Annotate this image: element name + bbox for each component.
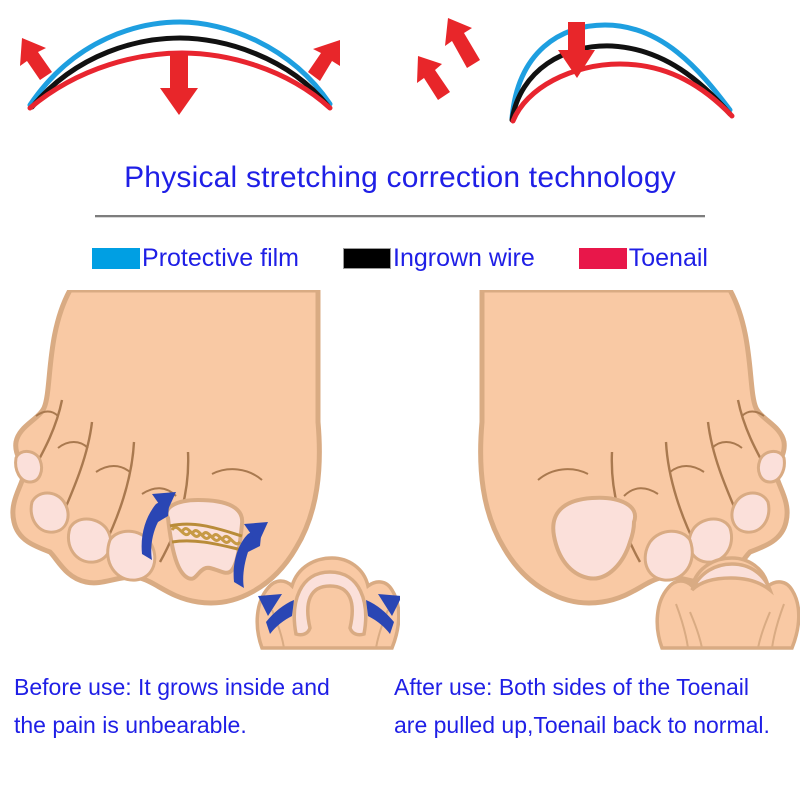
divider [95,215,705,218]
caption-after-use: After use: Both sides of the Toenail are… [394,668,774,744]
caption-before-line-1: Before use: It grows inside and [14,668,394,706]
legend-label-ingrown-wire: Ingrown wire [393,245,535,271]
arrow-down-center-icon [160,54,198,115]
caption-row: Before use: It grows inside and the pain… [0,668,800,778]
diagram-after-correction [400,0,800,150]
black-swatch [343,248,391,269]
toenail-little [758,451,784,482]
toenail-third [689,519,731,562]
arrow-up-right-icon [308,40,340,81]
toenail-second [645,531,692,580]
panel-before-use [0,290,400,670]
diagram-band [0,0,800,150]
toenail-fourth [732,493,769,532]
arrow-up-left-lower-icon [417,56,450,100]
arrow-up-left-upper-icon [445,18,480,68]
toenail-fourth [31,493,68,532]
legend-label-toenail: Toenail [629,245,708,271]
infographic-page: Physical stretching correction technolog… [0,0,800,800]
left-foot-illustration [13,290,320,603]
blue-swatch [92,248,140,269]
caption-after-line-1: After use: Both sides of the Toenail [394,668,774,706]
illustration-row [0,290,800,670]
arrow-up-left-icon [20,38,52,80]
legend-label-protective-film: Protective film [142,245,299,271]
legend: Protective film Ingrown wire Toenail [0,240,800,276]
right-foot-illustration [481,290,788,603]
caption-before-use: Before use: It grows inside and the pain… [14,668,394,744]
caption-after-line-2: are pulled up,Toenail back to normal. [394,706,774,744]
legend-item-protective-film: Protective film [92,245,299,271]
legend-item-ingrown-wire: Ingrown wire [343,245,535,271]
caption-before-line-2: the pain is unbearable. [14,706,394,744]
curve-protective-film [512,25,730,118]
crimson-swatch [579,248,627,269]
page-title: Physical stretching correction technolog… [0,158,800,198]
toenail-third [68,519,110,562]
panel-after-use [400,290,800,670]
toenail-little [16,451,42,482]
legend-item-toenail: Toenail [579,245,708,271]
diagram-before-correction [0,0,400,150]
